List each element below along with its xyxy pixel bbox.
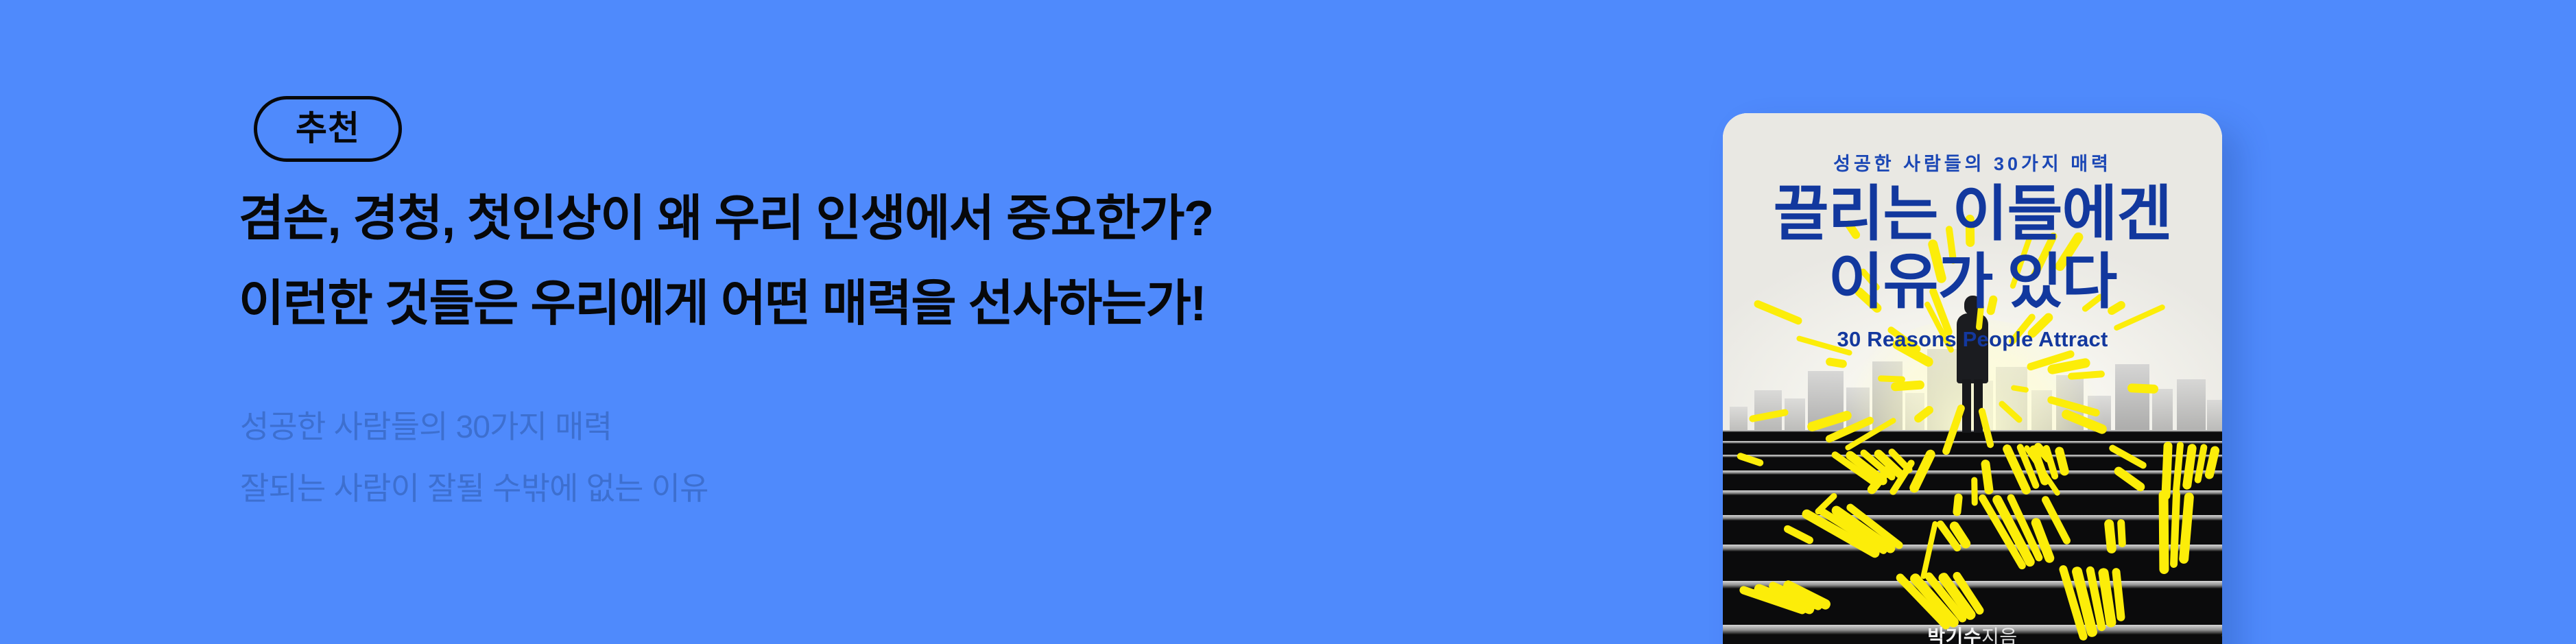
cover-author-suffix: 지음 bbox=[1981, 626, 2018, 644]
headline-line-1: 겸손, 경청, 첫인상이 왜 우리 인생에서 중요한가? bbox=[239, 177, 1213, 262]
recommendation-badge-label: 추천 bbox=[296, 111, 360, 145]
cover-title-line-2: 이유가 있다 bbox=[1723, 250, 2222, 318]
cover-english-subtitle: 30 Reasons People Attract bbox=[1723, 327, 2222, 352]
recommendation-badge: 추천 bbox=[254, 96, 402, 162]
promo-banner: 추천 겸손, 경청, 첫인상이 왜 우리 인생에서 중요한가? 이런한 것들은 … bbox=[0, 0, 2576, 644]
book-cover-artwork: 성공한 사람들의 30가지 매력 끌리는 이들에겐 이유가 있다 30 Reas… bbox=[1723, 113, 2222, 644]
cover-author-name: 박기수 bbox=[1927, 626, 1981, 644]
banner-headline: 겸손, 경청, 첫인상이 왜 우리 인생에서 중요한가? 이런한 것들은 우리에… bbox=[239, 177, 1213, 347]
banner-copy: 추천 겸손, 경청, 첫인상이 왜 우리 인생에서 중요한가? 이런한 것들은 … bbox=[239, 0, 1610, 644]
cover-kicker: 성공한 사람들의 30가지 매력 bbox=[1723, 149, 2222, 176]
cover-author: 박기수지음 bbox=[1723, 622, 2222, 644]
subtitle-line-1: 성공한 사람들의 30가지 매력 bbox=[240, 396, 708, 458]
cover-title-line-1: 끌리는 이들에겐 bbox=[1723, 182, 2222, 250]
book-cover-card[interactable]: 성공한 사람들의 30가지 매력 끌리는 이들에겐 이유가 있다 30 Reas… bbox=[1723, 113, 2222, 644]
banner-subtitle: 성공한 사람들의 30가지 매력 잘되는 사람이 잘될 수밖에 없는 이유 bbox=[240, 396, 708, 519]
cover-title: 끌리는 이들에겐 이유가 있다 bbox=[1723, 182, 2222, 317]
headline-line-2: 이런한 것들은 우리에게 어떤 매력을 선사하는가! bbox=[239, 262, 1213, 347]
subtitle-line-2: 잘되는 사람이 잘될 수밖에 없는 이유 bbox=[240, 458, 708, 520]
